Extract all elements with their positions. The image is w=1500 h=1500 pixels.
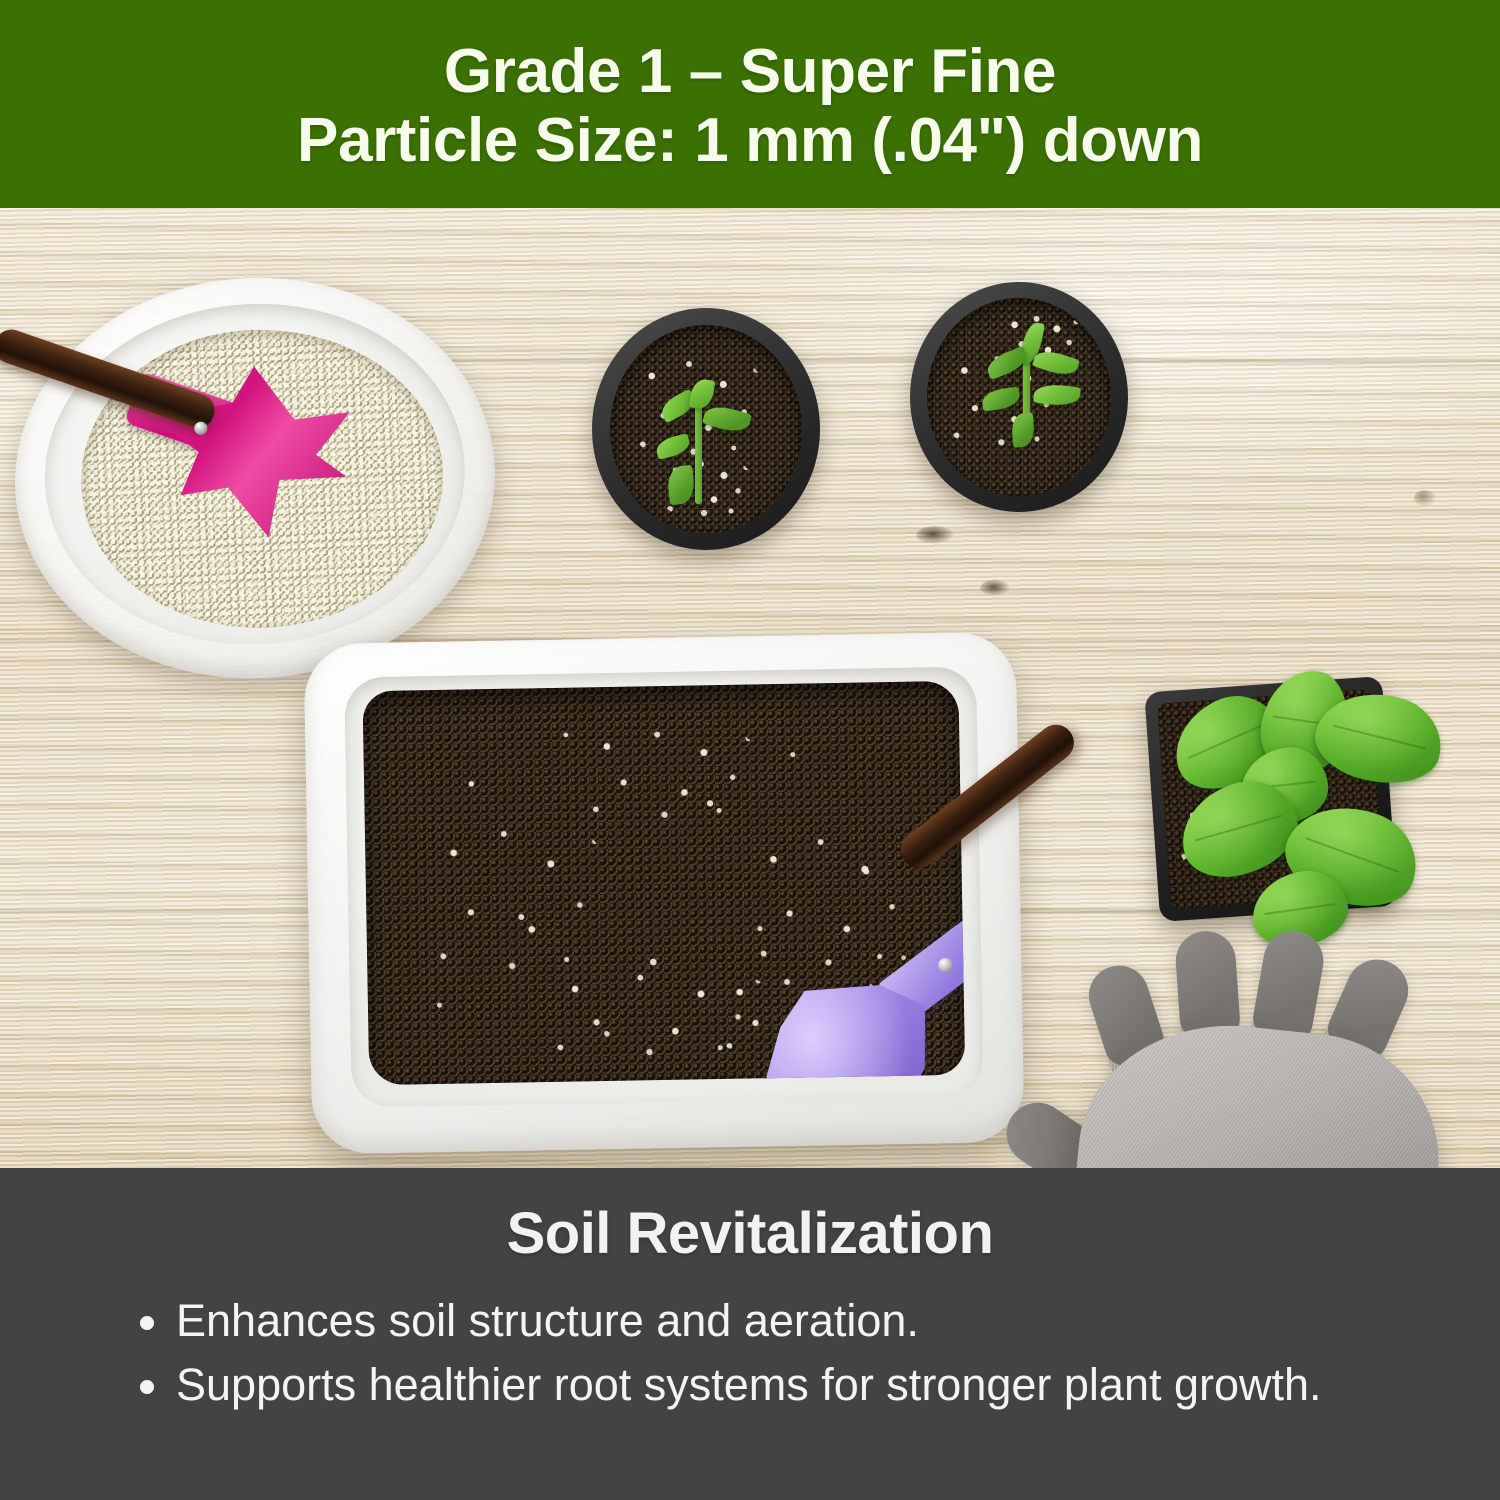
list-item: Enhances soil structure and aeration. xyxy=(138,1292,1404,1351)
soil-crumb xyxy=(916,526,954,544)
seedling-pot-right xyxy=(910,282,1128,512)
footer-banner: Soil Revitalization Enhances soil struct… xyxy=(0,1168,1500,1500)
glove-fingertip xyxy=(1250,926,1328,1043)
product-infographic: Grade 1 – Super Fine Particle Size: 1 mm… xyxy=(0,0,1500,1500)
leaf-vein xyxy=(1188,723,1265,759)
soil-tray xyxy=(304,632,1025,1154)
header-banner: Grade 1 – Super Fine Particle Size: 1 mm… xyxy=(0,0,1500,208)
bullet-dot-icon xyxy=(140,1316,154,1330)
gardening-glove xyxy=(997,885,1500,1168)
potting-soil xyxy=(362,681,965,1085)
seedling-stem xyxy=(695,404,702,504)
product-photo xyxy=(0,208,1500,1168)
pot-soil xyxy=(610,325,802,533)
benefits-list: Enhances soil structure and aeration. Su… xyxy=(96,1292,1404,1415)
header-title-line-1: Grade 1 – Super Fine xyxy=(444,37,1056,106)
tray-inner xyxy=(344,667,983,1108)
leaf-vein xyxy=(1332,725,1425,750)
pot-soil xyxy=(927,298,1110,496)
glove-fingertip xyxy=(1174,929,1241,1040)
leaf-vein xyxy=(1305,837,1400,873)
header-title-line-2: Particle Size: 1 mm (.04") down xyxy=(297,106,1203,175)
seedling-pot-left xyxy=(592,308,820,550)
soil-crumb xyxy=(980,580,1010,596)
leaf-vein xyxy=(1195,815,1282,842)
bullet-dot-icon xyxy=(140,1380,154,1394)
wood-knot-icon xyxy=(1414,490,1436,506)
list-item: Supports healthier root systems for stro… xyxy=(138,1356,1404,1415)
footer-title: Soil Revitalization xyxy=(96,1202,1404,1266)
list-item-text: Supports healthier root systems for stro… xyxy=(176,1359,1322,1410)
list-item-text: Enhances soil structure and aeration. xyxy=(176,1295,919,1346)
